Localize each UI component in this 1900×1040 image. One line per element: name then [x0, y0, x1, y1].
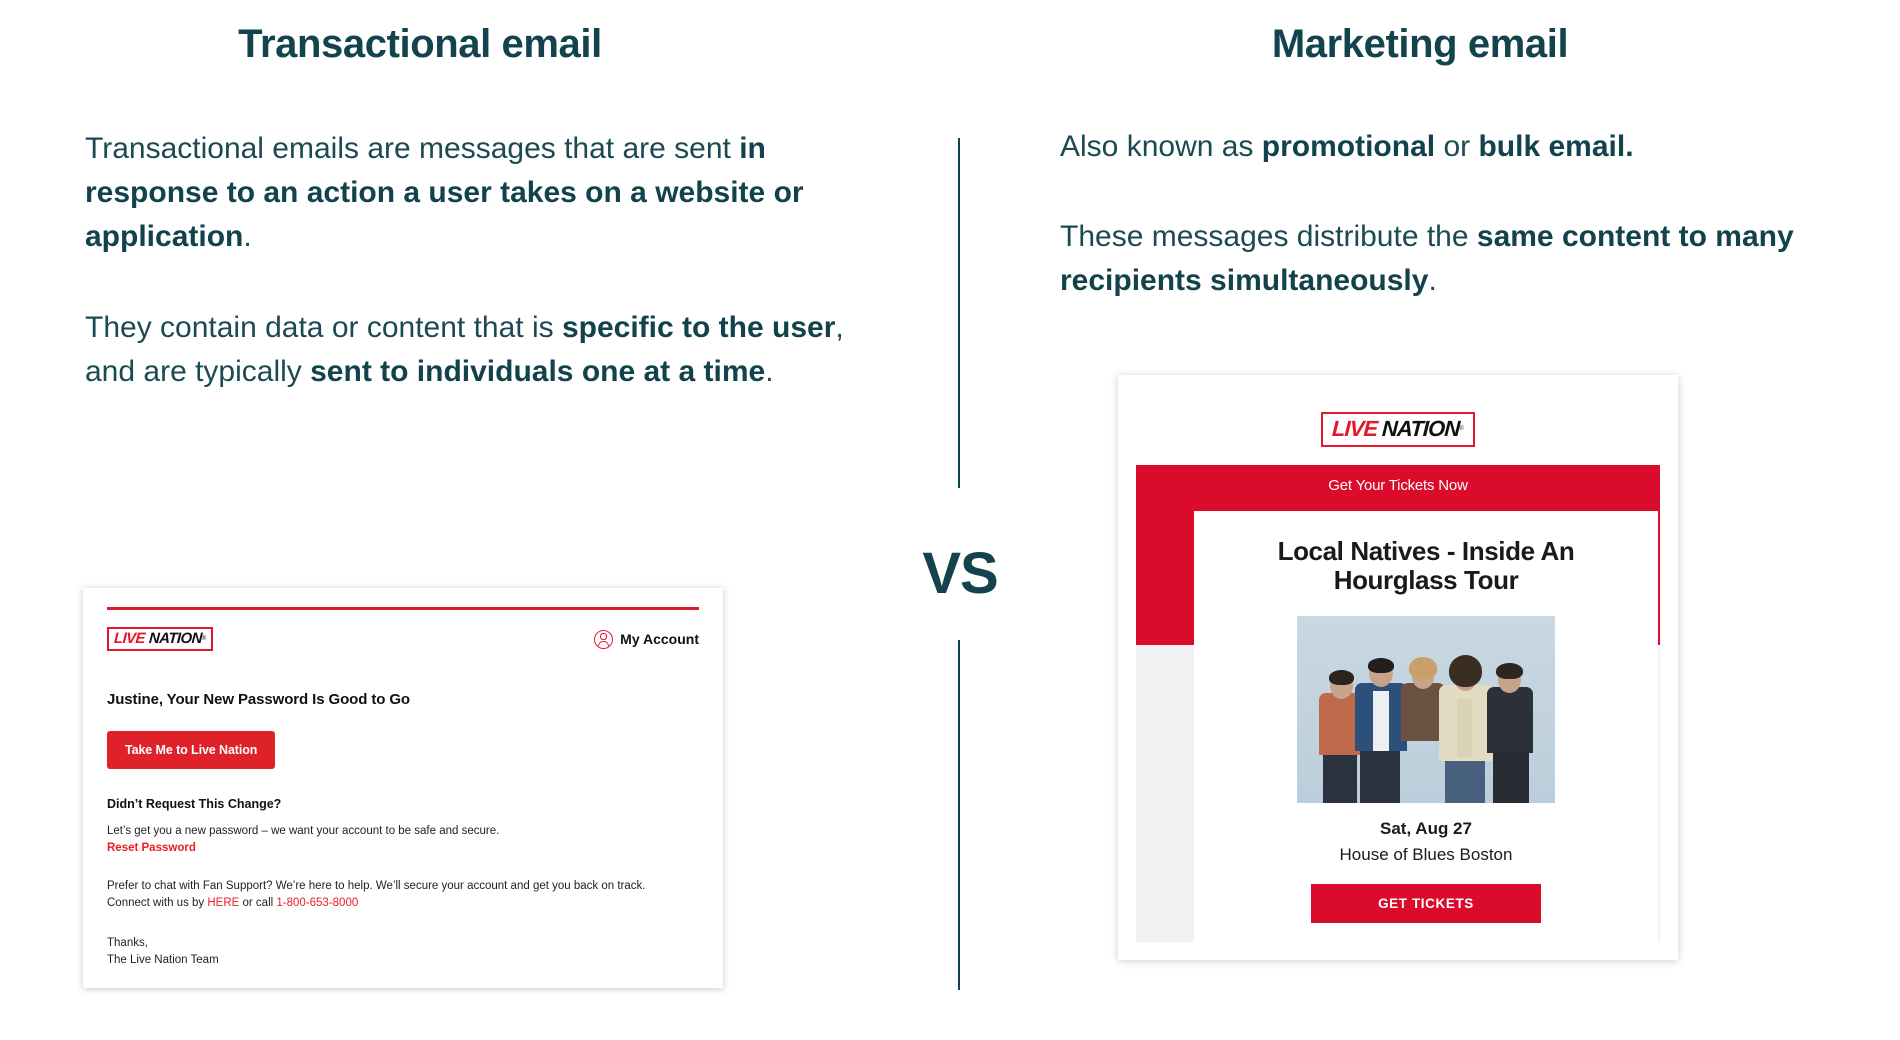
marketing-email-mockup: LIVENATION® Get Your Tickets Now Local N… — [1118, 375, 1678, 960]
fan-support-line-1: Prefer to chat with Fan Support? We’re h… — [107, 880, 645, 892]
marketing-paragraph-2: These messages distribute the same conte… — [1060, 215, 1870, 303]
paragraph-run: . — [1428, 264, 1436, 297]
fan-support-text: Prefer to chat with Fan Support? We’re h… — [107, 878, 699, 914]
email-signoff: Thanks, The Live Nation Team — [107, 935, 699, 970]
signoff-line-2: The Live Nation Team — [107, 954, 219, 966]
paragraph-run: They contain data or content that is — [85, 311, 562, 344]
column-divider-top — [958, 138, 960, 488]
marketing-email-inner: LIVENATION® Get Your Tickets Now Local N… — [1136, 393, 1660, 942]
fan-support-line-2-mid: or call — [239, 897, 276, 909]
page-title-marketing: Marketing email — [1060, 0, 1900, 67]
get-tickets-button[interactable]: GET TICKETS — [1311, 884, 1541, 923]
band-photo-image — [1297, 616, 1555, 803]
marketing-logo-bar: LIVENATION® — [1136, 393, 1660, 465]
vs-label: VS — [900, 540, 1020, 607]
reset-instructions: Let’s get you a new password – we want y… — [107, 823, 699, 858]
event-panel: Local Natives - Inside An Hourglass Tour — [1194, 511, 1658, 949]
paragraph-run-bold: promotional — [1262, 130, 1435, 163]
paragraph-run-bold: specific to the user — [562, 311, 835, 344]
comparison-board: Transactional email Transactional emails… — [0, 0, 1900, 1040]
here-link[interactable]: HERE — [207, 897, 239, 909]
didnt-request-heading: Didn’t Request This Change? — [107, 797, 699, 811]
my-account-label: My Account — [620, 631, 699, 647]
paragraph-run: Also known as — [1060, 130, 1262, 163]
logo-word-live: LIVE — [114, 631, 146, 646]
live-nation-logo: LIVENATION® — [1321, 412, 1474, 447]
transactional-paragraph-1: Transactional emails are messages that a… — [85, 127, 875, 258]
brand-top-rule — [107, 607, 699, 610]
marketing-paragraph-1: Also known as promotional or bulk email. — [1060, 125, 1870, 169]
paragraph-run-bold: bulk email. — [1478, 130, 1633, 163]
paragraph-run-bold: sent to individuals one at a time — [310, 355, 765, 388]
logo-word-nation: NATION — [1381, 418, 1459, 440]
user-account-icon — [594, 630, 613, 649]
take-me-to-live-nation-button[interactable]: Take Me to Live Nation — [107, 731, 275, 769]
paragraph-run: or — [1435, 130, 1478, 163]
signoff-line-1: Thanks, — [107, 937, 148, 949]
paragraph-run: . — [765, 355, 773, 388]
transactional-email-column: Transactional email Transactional emails… — [0, 0, 955, 1040]
event-date: Sat, Aug 27 — [1216, 819, 1636, 839]
reset-password-link[interactable]: Reset Password — [107, 842, 196, 854]
transactional-paragraph-2: They contain data or content that is spe… — [85, 306, 875, 394]
column-divider-bottom — [958, 640, 960, 990]
event-venue: House of Blues Boston — [1216, 845, 1636, 865]
paragraph-run: . — [243, 220, 251, 253]
email-header: LIVENATION® My Account — [107, 627, 699, 651]
fan-support-line-2-pre: Connect with us by — [107, 897, 207, 909]
logo-word-live: LIVE — [1332, 418, 1378, 440]
paragraph-run: These messages distribute the — [1060, 220, 1477, 253]
event-title: Local Natives - Inside An Hourglass Tour — [1216, 537, 1636, 596]
promo-banner-text: Get Your Tickets Now — [1136, 465, 1660, 494]
page-title-transactional: Transactional email — [85, 0, 955, 67]
my-account-link[interactable]: My Account — [594, 630, 699, 649]
live-nation-logo: LIVENATION® — [107, 627, 213, 651]
reset-instructions-text: Let’s get you a new password – we want y… — [107, 825, 499, 837]
email-subject-heading: Justine, Your New Password Is Good to Go — [107, 691, 699, 708]
logo-trademark-icon: ® — [1459, 426, 1463, 432]
support-phone-link[interactable]: 1-800-653-8000 — [276, 897, 358, 909]
promo-red-banner: Get Your Tickets Now Local Natives - Ins… — [1136, 465, 1660, 645]
transactional-email-mockup: LIVENATION® My Account Justine, Your New… — [83, 588, 723, 988]
logo-trademark-icon: ® — [202, 636, 206, 642]
paragraph-run: Transactional emails are messages that a… — [85, 132, 739, 165]
logo-word-nation: NATION — [149, 631, 203, 646]
